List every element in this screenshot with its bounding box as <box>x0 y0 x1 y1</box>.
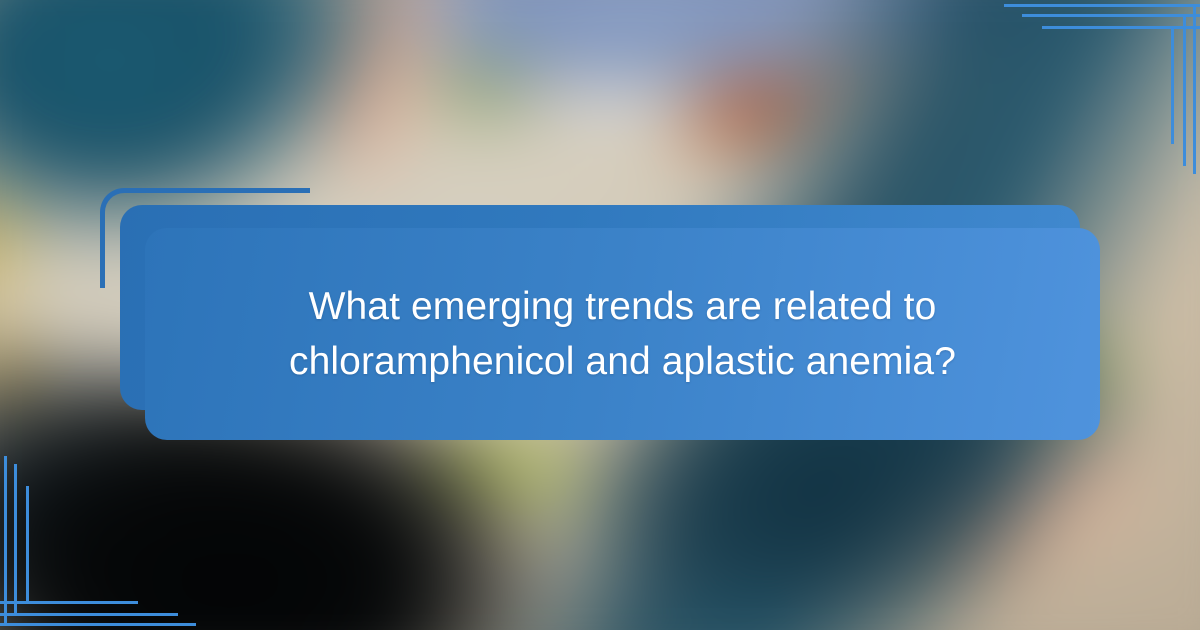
question-card[interactable]: What emerging trends are related to chlo… <box>145 228 1100 440</box>
question-text: What emerging trends are related to chlo… <box>283 279 963 390</box>
poster-canvas: What emerging trends are related to chlo… <box>0 0 1200 630</box>
